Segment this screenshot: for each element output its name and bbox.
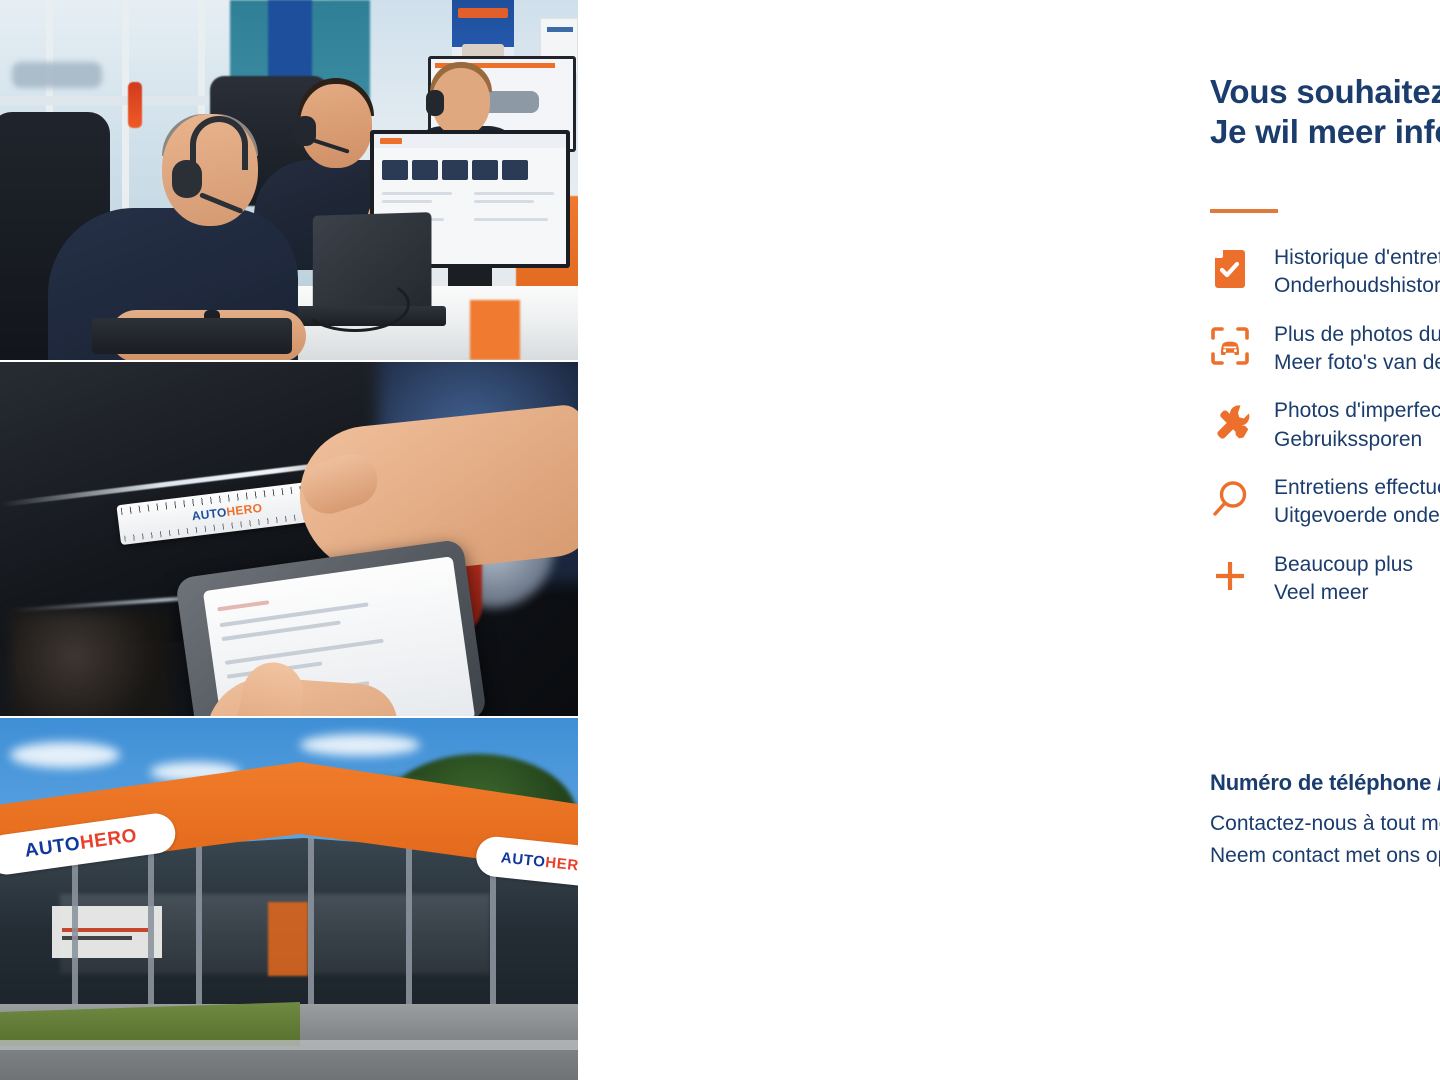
sign-right-hero: HERO: [545, 853, 578, 875]
page-title: Vous souhaitez plus d'informations sur /…: [1210, 72, 1440, 153]
promo-flyer: AUTOHERO: [0, 0, 1440, 1080]
content-panel: Vous souhaitez plus d'informations sur /…: [578, 0, 1440, 1080]
photo-column: AUTOHERO: [0, 0, 578, 1080]
photo-call-centre: [0, 0, 578, 360]
car-scan-icon: [1208, 320, 1252, 372]
title-divider: [1210, 209, 1278, 213]
feature-label-fr: Beaucoup plus: [1274, 551, 1413, 579]
list-item: Plus de photos du véhicule Meer foto's v…: [1208, 320, 1440, 378]
headline-line-nl: Je wil meer informatie over:: [1210, 112, 1440, 152]
plus-icon: [1208, 550, 1252, 602]
list-item: Entretiens effectués Uitgevoerde onderho…: [1208, 473, 1440, 531]
sign-left-hero: HERO: [79, 825, 139, 854]
magnifier-icon: [1208, 473, 1252, 525]
list-item: Photos d'imperfections Gebruikssporen: [1208, 396, 1440, 454]
wrench-screwdriver-icon: [1208, 396, 1252, 448]
sign-right-auto: AUTO: [500, 849, 546, 871]
feature-list: Historique d'entretien Onderhoudshistori…: [1208, 243, 1440, 626]
contact-text-nl: Neem contact met ons op voor meer inform…: [1210, 840, 1440, 872]
headline-line-fr: Vous souhaitez plus d'informations sur /: [1210, 72, 1440, 112]
phone-number-line: Numéro de téléphone / Telefoonnummer: +3…: [1210, 770, 1440, 796]
feature-label-nl: Veel meer: [1274, 579, 1413, 607]
photo-inspection: AUTOHERO: [0, 362, 578, 716]
feature-label-fr: Historique d'entretien: [1274, 244, 1440, 272]
contact-text: Contactez-nous à tout moment pour plus d…: [1210, 808, 1440, 872]
feature-label-fr: Photos d'imperfections: [1274, 397, 1440, 425]
list-item: Beaucoup plus Veel meer: [1208, 550, 1440, 608]
feature-label-nl: Uitgevoerde onderhoudswerkzaamheden: [1274, 502, 1440, 530]
list-item: Historique d'entretien Onderhoudshistori…: [1208, 243, 1440, 301]
ruler-brand-auto: AUTO: [191, 505, 227, 523]
contact-text-fr: Contactez-nous à tout moment pour plus d…: [1210, 808, 1440, 840]
feature-label-nl: Meer foto's van de auto: [1274, 349, 1440, 377]
document-check-icon: [1208, 243, 1252, 295]
feature-label-nl: Gebruikssporen: [1274, 426, 1440, 454]
feature-label-fr: Entretiens effectués: [1274, 474, 1440, 502]
photo-dealership: AUTOHERO AUTOHERO: [0, 718, 578, 1080]
feature-label-nl: Onderhoudshistorie: [1274, 272, 1440, 300]
feature-label-fr: Plus de photos du véhicule: [1274, 321, 1440, 349]
ruler-brand-hero: HERO: [226, 501, 263, 519]
sign-left-auto: AUTO: [23, 833, 81, 862]
